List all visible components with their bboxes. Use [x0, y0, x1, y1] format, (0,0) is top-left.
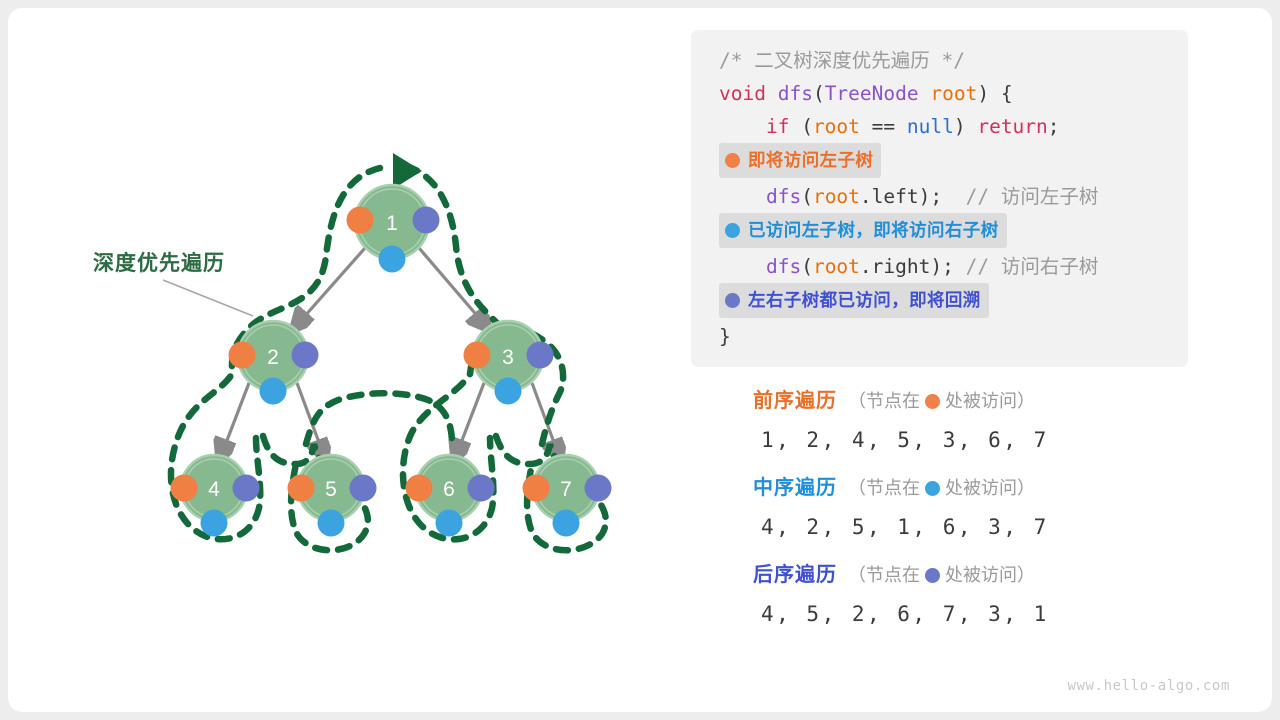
- right-column: /* 二叉树深度优先遍历 */ void dfs(TreeNode root) …: [683, 8, 1272, 712]
- paren-open: (: [813, 82, 825, 105]
- node-7-in-dot: [553, 510, 580, 537]
- node-5-in-dot: [318, 510, 345, 537]
- semicolon: ;: [1048, 115, 1060, 138]
- node-5-post-dot: [350, 475, 377, 502]
- node-6-pre-dot: [406, 475, 433, 502]
- postorder-title: 后序遍历: [753, 564, 837, 586]
- code-line-comment: /* 二叉树深度优先遍历 */: [691, 44, 1188, 77]
- node-2-value: 2: [267, 346, 279, 369]
- postorder-dot-icon: [925, 568, 940, 583]
- tree-node-4[interactable]: 4: [171, 455, 260, 537]
- node-7-value: 7: [560, 478, 572, 501]
- dfs-label: 深度优先遍历: [93, 251, 225, 275]
- tree-node-5[interactable]: 5: [288, 455, 377, 537]
- inorder-values: 4, 2, 5, 1, 6, 3, 7: [761, 512, 1253, 542]
- postorder-paren-right: 处被访问）: [945, 565, 1035, 585]
- code-line-dfs-left: dfs(root.left); // 访问左子树: [691, 180, 1188, 213]
- inorder-dot-icon: [925, 481, 940, 496]
- paren-open: (: [801, 255, 813, 278]
- prop-left: .left: [860, 185, 919, 208]
- fn-dfs: dfs: [766, 255, 801, 278]
- node-2-post-dot: [292, 342, 319, 369]
- annotation-pre: 即将访问左子树: [719, 143, 881, 178]
- postorder-paren-left: （节点在: [848, 565, 920, 585]
- annotation-post-text: 左右子树都已访问，即将回溯: [748, 284, 981, 317]
- kw-return: return: [966, 115, 1048, 138]
- semicolon: ;: [930, 185, 942, 208]
- node-6-in-dot: [436, 510, 463, 537]
- node-7-post-dot: [585, 475, 612, 502]
- kw-void: void: [719, 82, 766, 105]
- code-comment: /* 二叉树深度优先遍历 */: [719, 49, 965, 72]
- paren-close: ): [930, 255, 942, 278]
- var-root: root: [813, 115, 860, 138]
- fn-dfs: dfs: [766, 82, 813, 105]
- annotation-pre-text: 即将访问左子树: [748, 144, 873, 177]
- node-1-in-dot: [379, 246, 406, 273]
- space: [919, 82, 931, 105]
- paren-open: (: [801, 185, 813, 208]
- pre-dot-icon: [725, 153, 740, 168]
- node-5-pre-dot: [288, 475, 315, 502]
- paren-close: ): [977, 82, 989, 105]
- node-1-value: 1: [386, 212, 398, 235]
- node-2-pre-dot: [229, 342, 256, 369]
- paren-close: ): [919, 185, 931, 208]
- preorder-dot-icon: [925, 394, 940, 409]
- tree-node-1[interactable]: 1: [347, 185, 440, 273]
- var-root: root: [813, 255, 860, 278]
- node-4-value: 4: [208, 478, 220, 501]
- dfs-label-leader: [163, 280, 253, 316]
- code-line-nullcheck: if (root == null) return;: [691, 110, 1188, 143]
- figure-card: 1 2 3: [8, 8, 1272, 712]
- inorder-paren-left: （节点在: [848, 478, 920, 498]
- indent: [719, 115, 766, 138]
- annotation-post: 左右子树都已访问，即将回溯: [719, 283, 989, 318]
- inorder-heading: 中序遍历（节点在处被访问）: [753, 473, 1253, 503]
- preorder-title: 前序遍历: [753, 390, 837, 412]
- traversal-results: 前序遍历（节点在处被访问） 1, 2, 4, 5, 3, 6, 7 中序遍历（节…: [753, 386, 1253, 647]
- indent: [719, 255, 766, 278]
- post-dot-icon: [725, 293, 740, 308]
- node-3-pre-dot: [464, 342, 491, 369]
- binary-tree-diagram: 1 2 3: [8, 8, 688, 712]
- inline-comment: // 访问右子树: [954, 255, 1098, 278]
- annotation-in: 已访问左子树，即将访问右子树: [719, 213, 1007, 248]
- annotation-in-text: 已访问左子树，即将访问右子树: [748, 214, 999, 247]
- node-7-pre-dot: [523, 475, 550, 502]
- preorder-paren-left: （节点在: [848, 391, 920, 411]
- node-3-in-dot: [495, 378, 522, 405]
- inorder-title: 中序遍历: [753, 477, 837, 499]
- brace-close: }: [719, 325, 731, 348]
- preorder-values: 1, 2, 4, 5, 3, 6, 7: [761, 425, 1253, 455]
- node-3-value: 3: [502, 346, 514, 369]
- node-3-post-dot: [527, 342, 554, 369]
- indent: [719, 185, 766, 208]
- code-line-dfs-right: dfs(root.right); // 访问右子树: [691, 250, 1188, 283]
- code-block: /* 二叉树深度优先遍历 */ void dfs(TreeNode root) …: [691, 30, 1188, 367]
- fn-dfs: dfs: [766, 185, 801, 208]
- node-6-post-dot: [468, 475, 495, 502]
- paren-close: ): [954, 115, 966, 138]
- annotation-line-pre: 即将访问左子树: [691, 143, 1188, 180]
- preorder-heading: 前序遍历（节点在处被访问）: [753, 386, 1253, 416]
- paren-open: (: [789, 115, 812, 138]
- node-6-value: 6: [443, 478, 455, 501]
- code-line-signature: void dfs(TreeNode root) {: [691, 77, 1188, 110]
- node-5-value: 5: [325, 478, 337, 501]
- node-1-post-dot: [413, 207, 440, 234]
- brace-open: {: [989, 82, 1012, 105]
- watermark: www.hello-algo.com: [1067, 678, 1230, 694]
- kw-if: if: [766, 115, 789, 138]
- node-4-in-dot: [201, 510, 228, 537]
- preorder-paren-right: 处被访问）: [945, 391, 1035, 411]
- type-treenode: TreeNode: [825, 82, 919, 105]
- tree-node-7[interactable]: 7: [523, 455, 612, 537]
- annotation-line-post: 左右子树都已访问，即将回溯: [691, 283, 1188, 320]
- node-2-in-dot: [260, 378, 287, 405]
- var-root: root: [813, 185, 860, 208]
- semicolon: ;: [942, 255, 954, 278]
- inorder-paren-right: 处被访问）: [945, 478, 1035, 498]
- node-4-post-dot: [233, 475, 260, 502]
- annotation-line-in: 已访问左子树，即将访问右子树: [691, 213, 1188, 250]
- prop-right: .right: [860, 255, 930, 278]
- inline-comment: // 访问左子树: [942, 185, 1098, 208]
- node-1-pre-dot: [347, 207, 374, 234]
- node-4-pre-dot: [171, 475, 198, 502]
- postorder-values: 4, 5, 2, 6, 7, 3, 1: [761, 599, 1253, 629]
- tree-svg: 1 2 3: [8, 8, 688, 712]
- literal-null: null: [907, 115, 954, 138]
- postorder-heading: 后序遍历（节点在处被访问）: [753, 560, 1253, 590]
- tree-node-3[interactable]: 3: [464, 321, 554, 405]
- code-line-close: }: [691, 320, 1188, 353]
- start-play-icon: [393, 153, 422, 189]
- param-root: root: [930, 82, 977, 105]
- op-eq: ==: [860, 115, 907, 138]
- in-dot-icon: [725, 223, 740, 238]
